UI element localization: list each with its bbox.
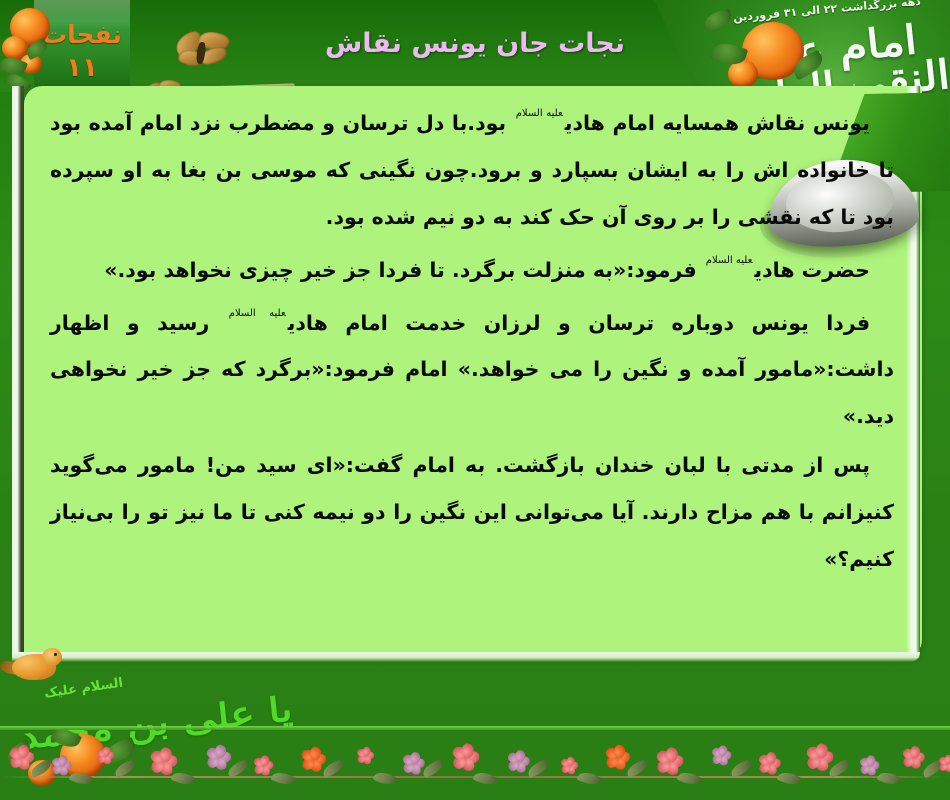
panel-rim-left xyxy=(12,86,24,658)
vine-flower xyxy=(8,746,34,770)
story-text-run: پس از مدتی با لبان خندان بازگشت. به امام… xyxy=(50,453,894,571)
story-text-run: یونس نقاش همسایه امام هادی xyxy=(565,111,870,135)
story-text-run: حضرت هادی xyxy=(754,258,870,282)
vine-flower xyxy=(149,749,178,775)
vine-flower xyxy=(253,756,274,775)
story-paragraph: پس از مدتی با لبان خندان بازگشت. به امام… xyxy=(50,442,894,583)
vine-leaf xyxy=(577,769,602,787)
vine-leaf xyxy=(373,769,398,787)
honorific-superscript: علیه السلام xyxy=(706,255,753,266)
panel-rim-right xyxy=(906,86,920,658)
butterfly-tan-large xyxy=(175,32,233,74)
story-body: یونس نقاش همسایه امام هادیعلیه السلام بو… xyxy=(36,96,908,646)
vine-flower xyxy=(938,756,950,773)
story-paragraph: یونس نقاش همسایه امام هادیعلیه السلام بو… xyxy=(50,96,894,241)
vine-flower xyxy=(205,746,231,770)
vine-flower xyxy=(901,747,924,769)
vine-flower xyxy=(655,749,684,775)
panel-rim-bottom xyxy=(12,652,920,662)
vine-flower xyxy=(859,756,880,775)
vine-top-line xyxy=(0,726,950,730)
story-text-run: فردا یونس دوباره ترسان و لرزان خدمت امام… xyxy=(288,310,870,334)
vine-leaf xyxy=(271,769,296,787)
vine-flower xyxy=(757,753,780,775)
honorific-superscript: علیه السلام xyxy=(229,308,286,319)
vine-flower xyxy=(96,748,114,765)
story-paragraph: حضرت هادیعلیه السلام فرمود:«به منزلت برگ… xyxy=(50,243,894,294)
vine-leaf xyxy=(877,769,902,787)
vine-leaf xyxy=(473,769,498,787)
vine-flower xyxy=(51,756,72,775)
vine-flower xyxy=(356,748,374,765)
infographic-page: نفحات ۱۱ نجات جان یونس نقاش امام علی الن… xyxy=(0,0,950,800)
story-paragraph: فردا یونس دوباره ترسان و لرزان خدمت امام… xyxy=(50,296,894,441)
story-text-run: فرمود:«به منزلت برگرد. تا فردا جز خیر چی… xyxy=(104,258,704,282)
vine-flower xyxy=(604,746,630,770)
vine-flower xyxy=(711,746,732,765)
vine-flower xyxy=(300,748,326,772)
honorific-superscript: علیه السلام xyxy=(516,108,563,119)
vine-flower xyxy=(506,751,529,773)
floral-vine-border xyxy=(0,724,950,800)
vine-leaf xyxy=(69,769,94,787)
vine-flower xyxy=(805,745,834,771)
vine-flower xyxy=(560,758,578,775)
vine-flower xyxy=(401,753,424,775)
vine-flower xyxy=(451,745,480,771)
